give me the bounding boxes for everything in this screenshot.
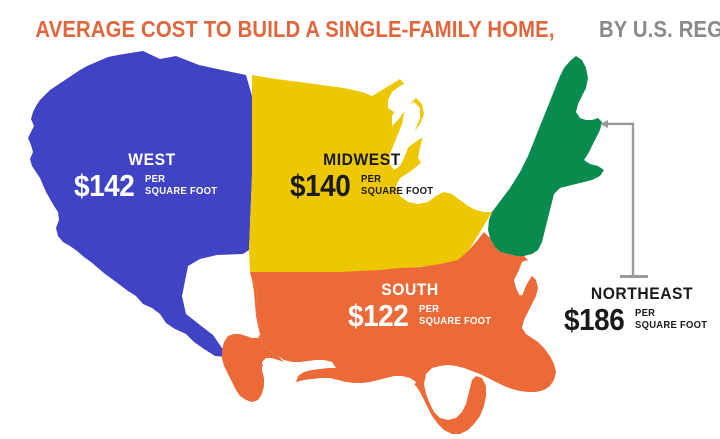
map-region-midwest[interactable] [249, 75, 492, 272]
page-title: AVERAGE COST TO BUILD A SINGLE-FAMILY HO… [0, 16, 720, 43]
map-region-northeast[interactable] [488, 56, 604, 256]
us-region-map [0, 46, 720, 439]
infographic-root: AVERAGE COST TO BUILD A SINGLE-FAMILY HO… [0, 0, 720, 439]
title-main-text: AVERAGE COST TO BUILD A SINGLE-FAMILY HO… [35, 16, 554, 43]
great-lakes-huron-erie [418, 128, 438, 164]
map-region-west[interactable] [28, 51, 263, 376]
title-sub-text: BY U.S. REGION [599, 16, 720, 43]
great-lakes-ontario [436, 150, 460, 170]
